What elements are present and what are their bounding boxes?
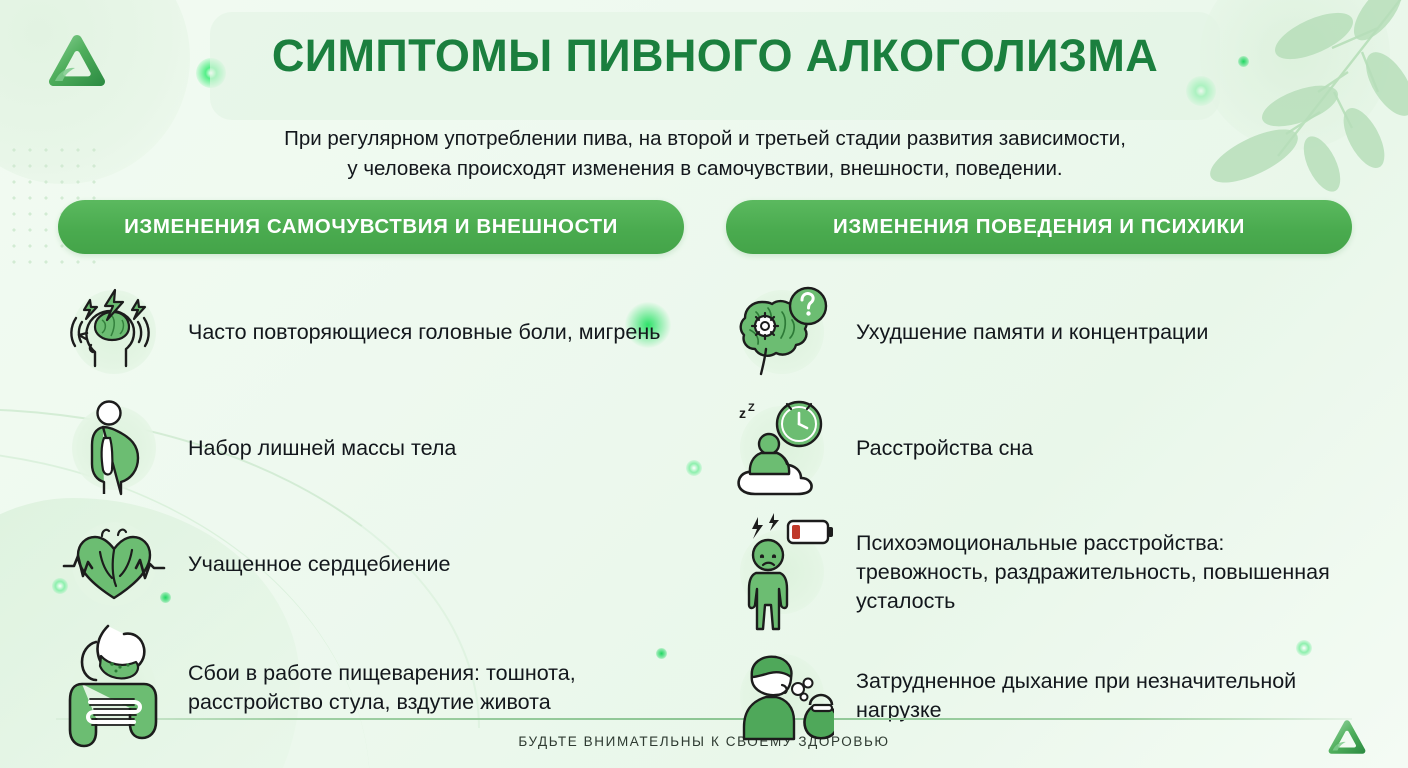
list-item-label: Ухудшение памяти и концентрации: [856, 318, 1208, 347]
brain-question-icon: [726, 276, 838, 388]
low-battery-person-icon: [726, 508, 838, 636]
heart-pulse-icon: [58, 508, 170, 620]
footer-divider: [56, 718, 1352, 720]
overweight-body-icon: [58, 392, 170, 504]
list-item-label: Расстройства сна: [856, 434, 1033, 463]
triangle-knot-logo-icon: [45, 32, 109, 92]
stomach-intestines-icon: [58, 624, 170, 752]
list-item: Набор лишней массы тела: [58, 392, 684, 504]
svg-text:Z: Z: [748, 402, 755, 414]
list-item-label: Затрудненное дыхание при незначительной …: [856, 667, 1352, 725]
subtitle-line-2: у человека происходят изменения в самочу…: [150, 154, 1260, 184]
head-migraine-icon: [58, 276, 170, 388]
symptom-list-physical: Часто повторяющиеся головные боли, мигре…: [58, 276, 684, 752]
list-item-label: Набор лишней массы тела: [188, 434, 456, 463]
page-title: СИМПТОМЫ ПИВНОГО АЛКОГОЛИЗМА: [210, 30, 1220, 82]
list-item: z Z Расстройства сна: [726, 392, 1352, 504]
svg-text:z: z: [739, 405, 746, 421]
list-item: Ухудшение памяти и концентрации: [726, 276, 1352, 388]
symptom-list-behavior: Ухудшение памяти и концентрации: [726, 276, 1352, 752]
section-heading-physical: ИЗМЕНЕНИЯ САМОЧУВСТВИЯ И ВНЕШНОСТИ: [58, 200, 684, 254]
list-item: Сбои в работе пищеварения: тошнота, расс…: [58, 624, 684, 752]
insomnia-cloud-clock-icon: z Z: [726, 392, 838, 504]
footer-triangle-knot-logo-icon: [1326, 718, 1368, 758]
footer-caption: БУДЬТЕ ВНИМАТЕЛЬНЫ К СВОЕМУ ЗДОРОВЬЮ: [0, 734, 1408, 749]
page-subtitle: При регулярном употреблении пива, на вто…: [150, 124, 1260, 184]
section-heading-behavior: ИЗМЕНЕНИЯ ПОВЕДЕНИЯ И ПСИХИКИ: [726, 200, 1352, 254]
column-behavior-symptoms: ИЗМЕНЕНИЯ ПОВЕДЕНИЯ И ПСИХИКИ: [726, 200, 1352, 756]
list-item-label: Сбои в работе пищеварения: тошнота, расс…: [188, 659, 684, 717]
list-item-label: Психоэмоциональные расстройства: тревожн…: [856, 529, 1352, 616]
glow-dot: [1238, 56, 1249, 67]
list-item-label: Учащенное сердцебиение: [188, 550, 450, 579]
breathless-kettlebell-icon: [726, 640, 838, 752]
list-item: Часто повторяющиеся головные боли, мигре…: [58, 276, 684, 388]
list-item: Учащенное сердцебиение: [58, 508, 684, 620]
glow-dot: [686, 460, 702, 476]
list-item: Психоэмоциональные расстройства: тревожн…: [726, 508, 1352, 636]
list-item-label: Часто повторяющиеся головные боли, мигре…: [188, 318, 660, 347]
subtitle-line-1: При регулярном употреблении пива, на вто…: [150, 124, 1260, 154]
column-physical-symptoms: ИЗМЕНЕНИЯ САМОЧУВСТВИЯ И ВНЕШНОСТИ: [58, 200, 684, 756]
